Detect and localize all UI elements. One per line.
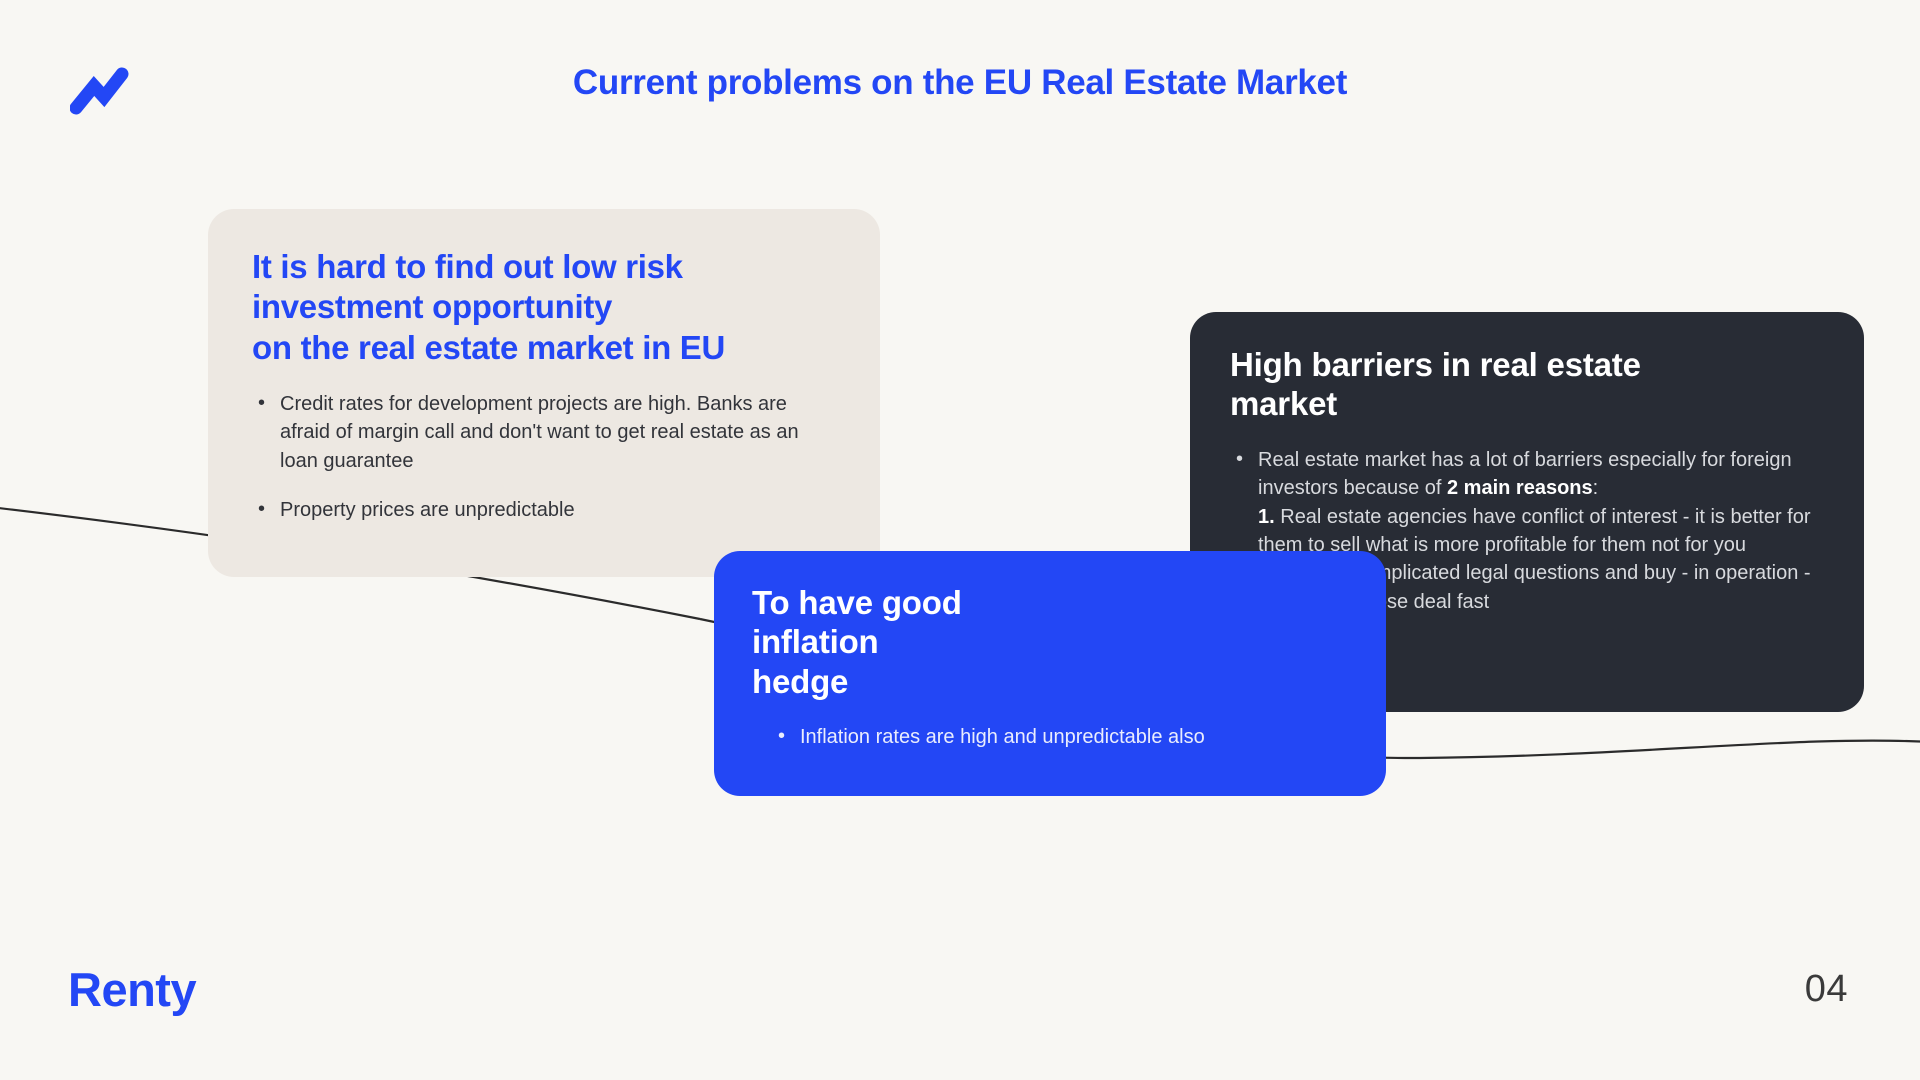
list-item: Property prices are unpredictable [252, 496, 836, 524]
barriers-bold-reasons: 2 main reasons [1447, 477, 1593, 499]
card-heading-high-barriers: High barriers in real estate market [1230, 346, 1826, 424]
heading-line-2: inflation [752, 623, 879, 660]
heading-line-3: on the real estate market in EU [252, 329, 725, 366]
list-item: Inflation rates are high and unpredictab… [772, 723, 1342, 751]
page-number: 04 [1805, 968, 1848, 1011]
card-heading-low-risk: It is hard to find out low risk investme… [252, 247, 836, 368]
brand-logo-text: Renty [68, 962, 196, 1017]
heading-line-3: hedge [752, 663, 848, 700]
slide-canvas: Current problems on the EU Real Estate M… [0, 0, 1920, 1080]
heading-line-1: To have good [752, 584, 962, 621]
heading-line-1: High barriers in real estate [1230, 346, 1641, 383]
bullet-list-inflation: Inflation rates are high and unpredictab… [752, 723, 1342, 751]
page-title: Current problems on the EU Real Estate M… [0, 63, 1920, 103]
card-heading-inflation-hedge: To have good inflation hedge [752, 583, 1342, 701]
list-item: Credit rates for development projects ar… [252, 390, 836, 475]
heading-line-2: investment opportunity [252, 288, 612, 325]
heading-line-2: market [1230, 385, 1337, 422]
bullet-list-low-risk: Credit rates for development projects ar… [252, 390, 836, 525]
barriers-colon: : [1593, 477, 1599, 499]
card-low-risk-investment: It is hard to find out low risk investme… [208, 209, 880, 577]
card-inflation-hedge: To have good inflation hedge Inflation r… [714, 551, 1386, 796]
reason-1-text: Real estate agencies have conflict of in… [1258, 506, 1811, 556]
heading-line-1: It is hard to find out low risk [252, 248, 683, 285]
reason-1-marker: 1. [1258, 506, 1275, 528]
